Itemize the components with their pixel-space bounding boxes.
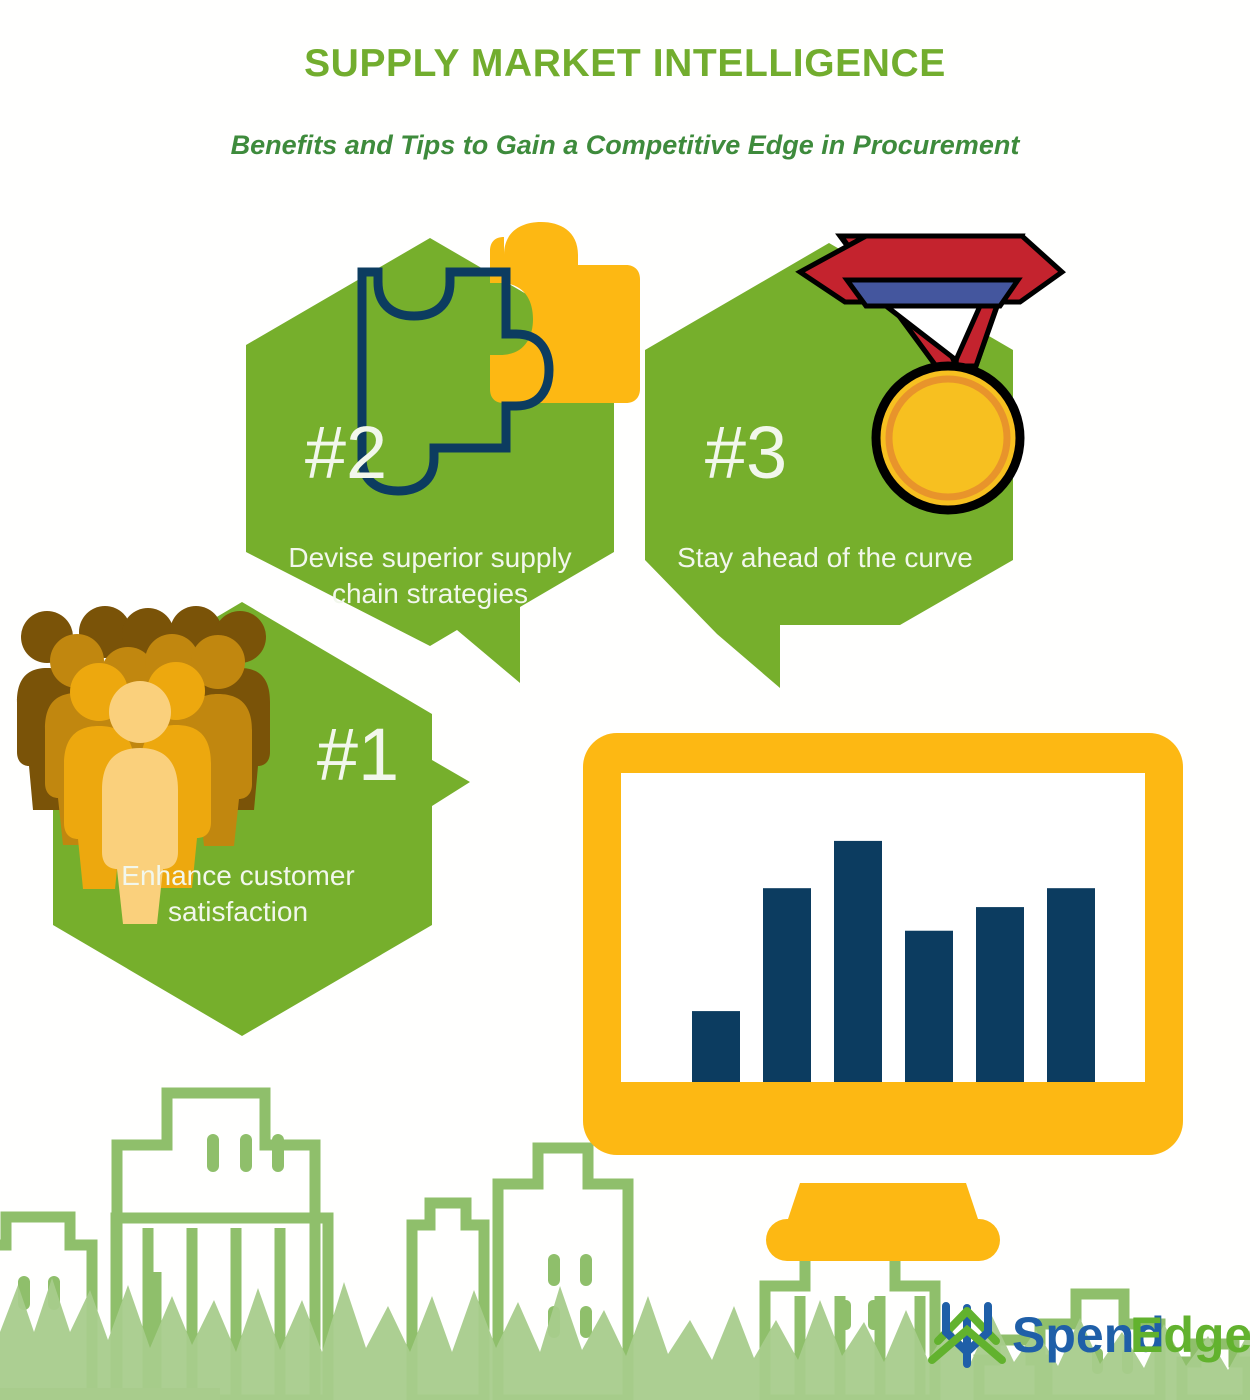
logo-wordmark-edge: Edge	[1130, 1307, 1250, 1363]
logo-mark-icon	[932, 1306, 1002, 1364]
spendedge-logo-icon[interactable]: Spend Edge	[0, 0, 1250, 1400]
infographic-canvas: #2 Devise superior supply chain strategi…	[0, 0, 1250, 1400]
